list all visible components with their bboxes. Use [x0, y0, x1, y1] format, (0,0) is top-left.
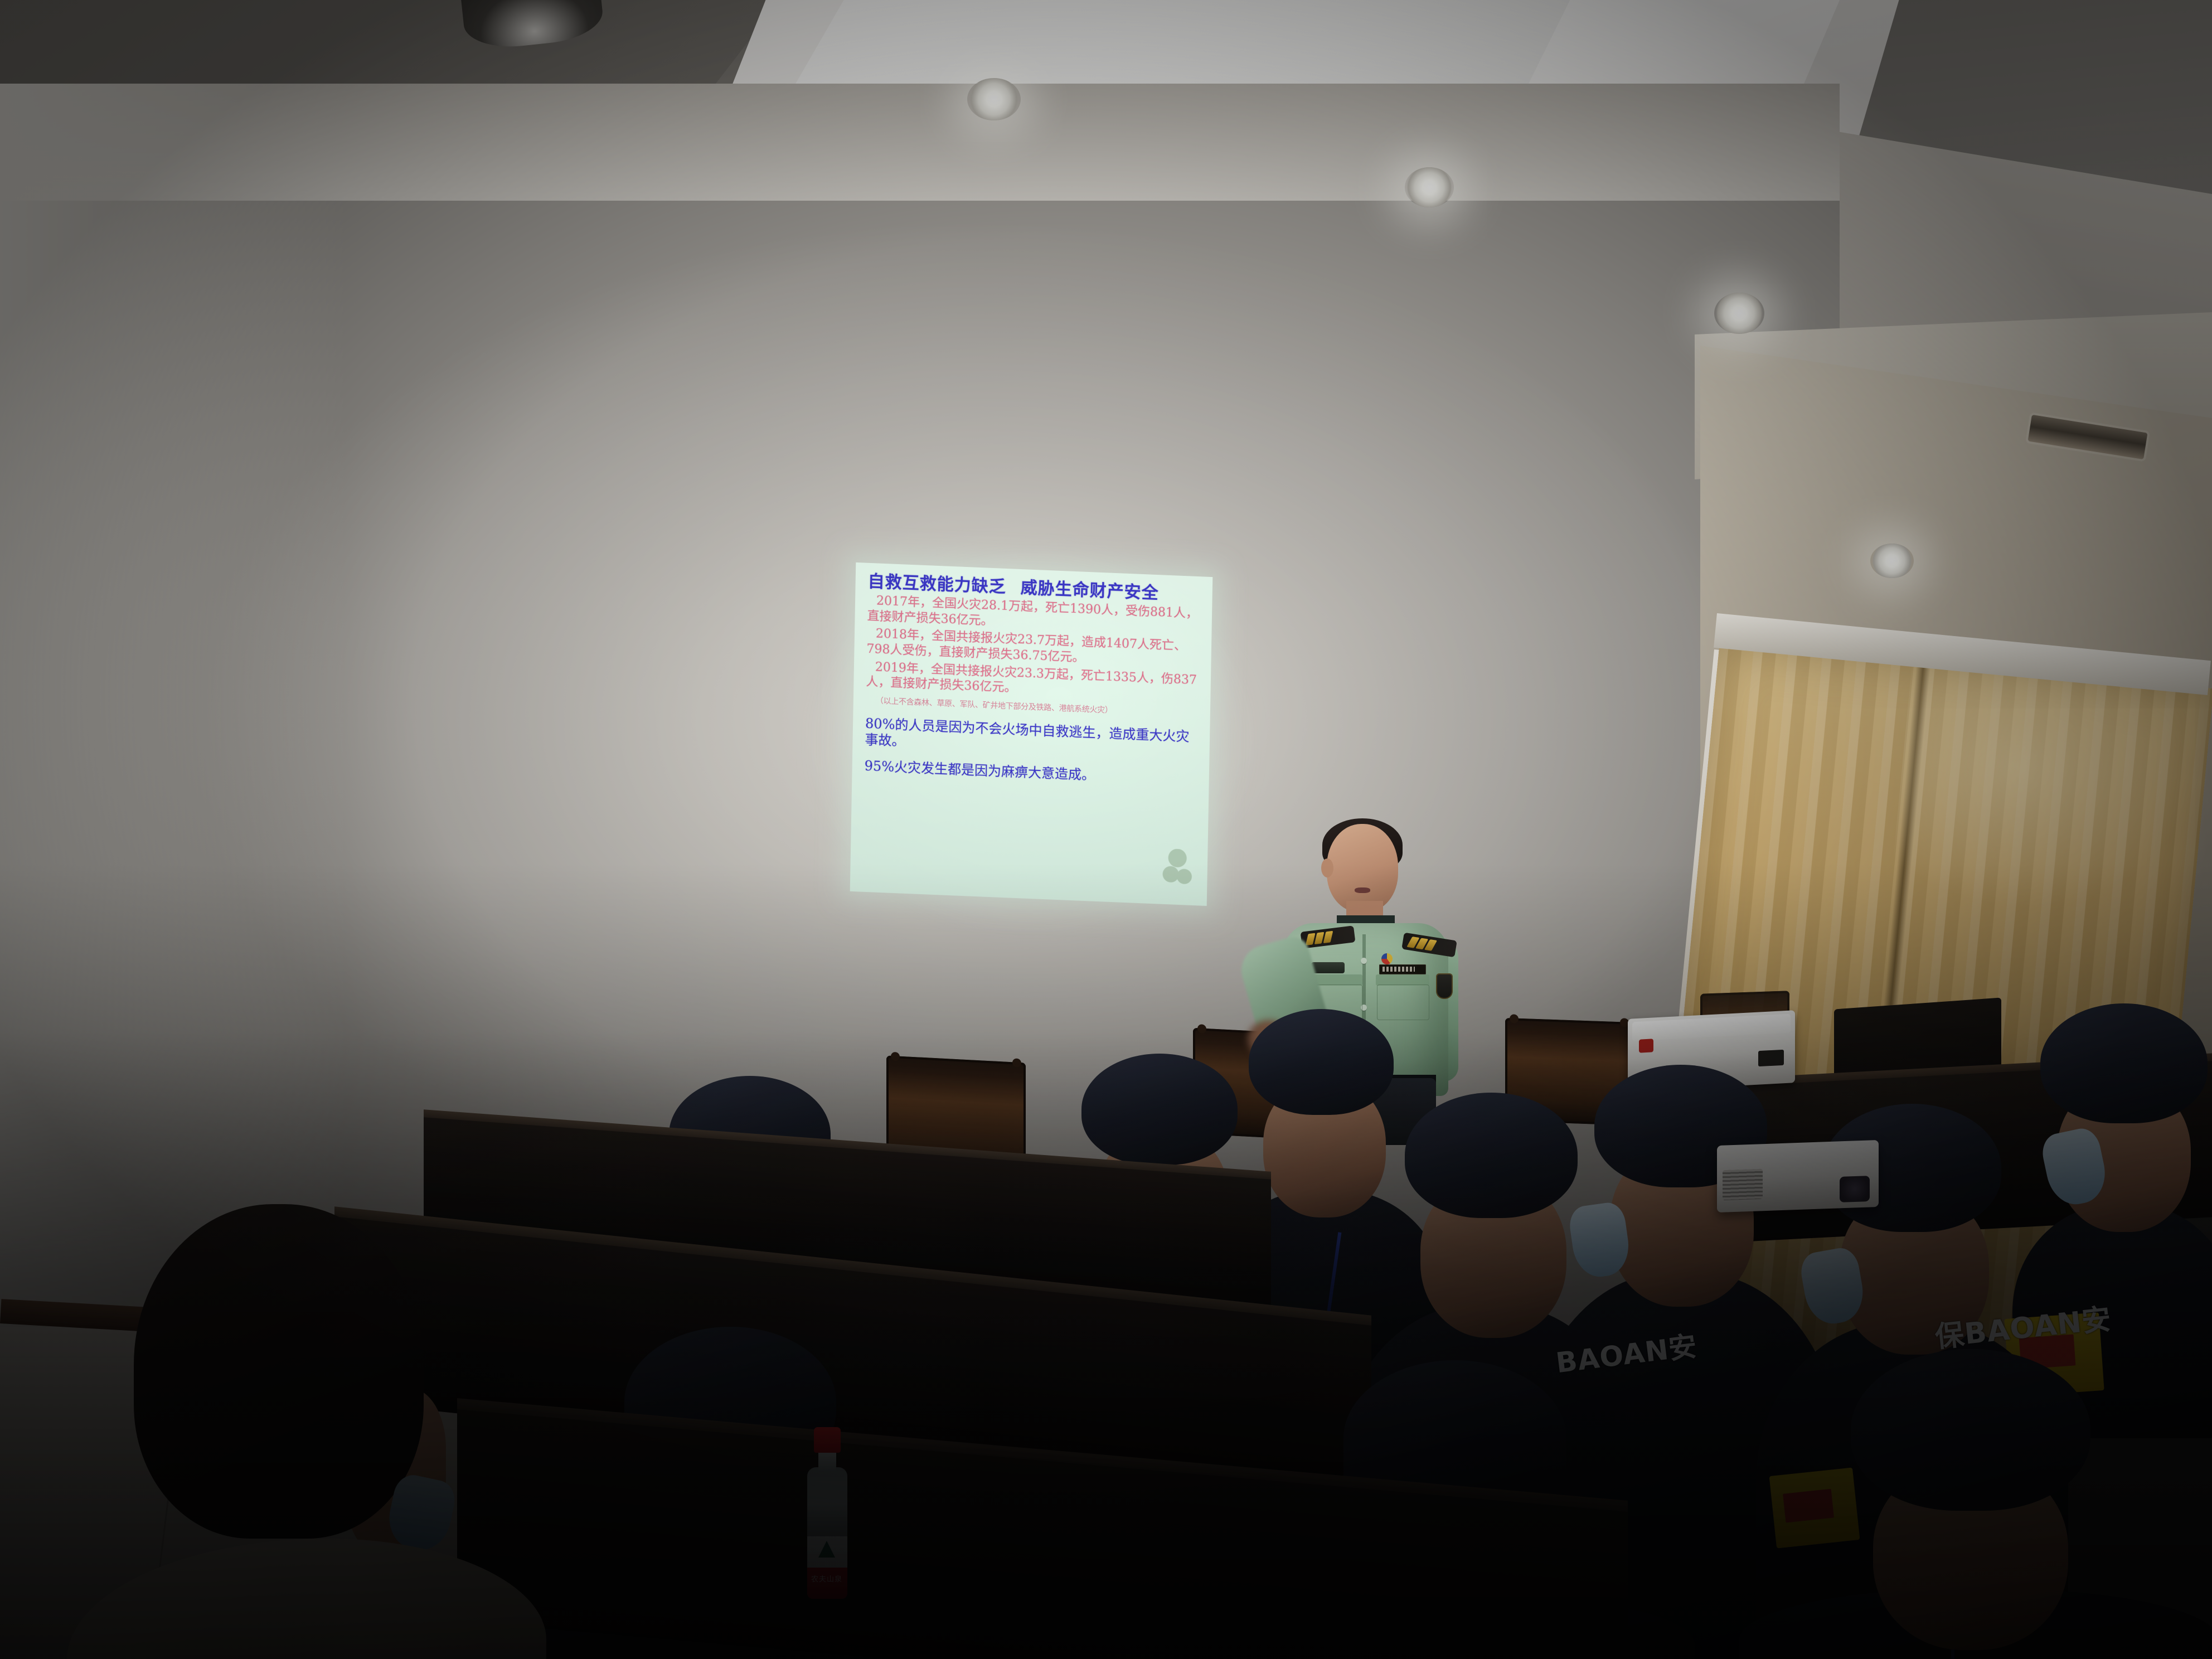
- presenter-pocket-flap: [1376, 974, 1429, 986]
- bottle-cap[interactable]: [814, 1427, 841, 1453]
- room-photo-scene: 自救互救能力缺乏威胁生命财产安全 2017年，全国火灾28.1万起，死亡1390…: [0, 0, 2212, 1659]
- presenter-nameplate: [1379, 964, 1426, 974]
- bottle-brand-text: 农夫山泉: [803, 1573, 851, 1584]
- slide-highlight-95: 95%火灾发生都是因为麻痹大意造成。: [864, 758, 1198, 787]
- projector-vent-icon: [1723, 1169, 1763, 1201]
- presenter-ear: [1321, 858, 1333, 877]
- downlight-icon: [1405, 167, 1454, 207]
- cap-icon: [2040, 1003, 2208, 1123]
- projector-case-red-tag: [1639, 1039, 1653, 1052]
- bottle-mountain-logo-icon: [818, 1541, 835, 1558]
- projector-lens-icon: [1840, 1176, 1870, 1202]
- foreground-person-shirt: [67, 1539, 546, 1659]
- projector-case-latch[interactable]: [1758, 1050, 1784, 1066]
- cap-icon: [1081, 1054, 1238, 1165]
- water-bottle[interactable]: 农夫山泉: [803, 1427, 851, 1600]
- foreground-person: [67, 1204, 502, 1659]
- slide-body: 2017年，全国火灾28.1万起，死亡1390人，受伤881人，直接财产损失36…: [866, 593, 1201, 704]
- slide-watermark-logo-icon: [1159, 848, 1195, 891]
- downlight-icon: [967, 78, 1021, 120]
- curtain-daylight-glow: [1890, 663, 2201, 924]
- downlight-icon: [1870, 544, 1914, 578]
- audience-member: [1756, 1349, 2180, 1659]
- projected-slide: 自救互救能力缺乏威胁生命财产安全 2017年，全国火灾28.1万起，死亡1390…: [850, 562, 1213, 906]
- presenter-head: [1327, 824, 1398, 912]
- presenter-shoulder-patch-icon: [1436, 973, 1453, 999]
- presenter-mouth: [1355, 887, 1370, 893]
- cap-icon: [1851, 1349, 2090, 1511]
- presenter-wing-patch-icon: [1311, 962, 1345, 973]
- downlight-icon: [1714, 293, 1764, 334]
- slide-highlight-80: 80%的人员是因为不会火场中自救逃生，造成重大火灾事故。: [865, 716, 1199, 761]
- presenter-flag-badge-icon: [1381, 953, 1393, 964]
- foreground-person-head: [134, 1204, 424, 1539]
- wall-left-shading: [0, 84, 346, 1366]
